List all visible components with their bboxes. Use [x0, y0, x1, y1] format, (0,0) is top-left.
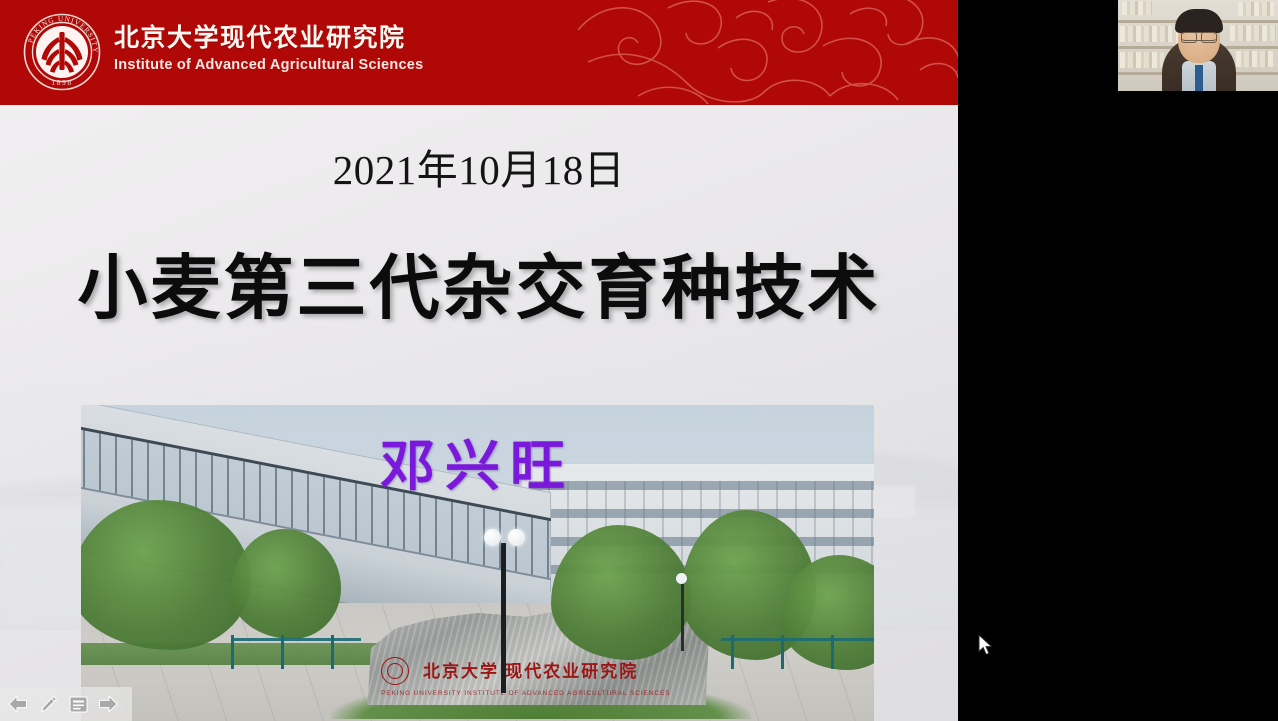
presentation-slide[interactable]: PEKING UNIVERSITY 1898 北京大学现代农业研究院 Insti…	[0, 0, 958, 721]
presentation-toolbar[interactable]	[0, 687, 132, 721]
presenter-name: 邓兴旺	[81, 421, 874, 501]
institute-name-cn: 北京大学现代农业研究院	[114, 24, 423, 53]
brand-text-block: 北京大学现代农业研究院 Institute of Advanced Agricu…	[114, 24, 423, 73]
stone-seal-icon	[381, 657, 409, 685]
screen-root: PEKING UNIVERSITY 1898 北京大学现代农业研究院 Insti…	[0, 0, 1278, 721]
pen-icon	[39, 695, 58, 714]
slide-title: 小麦第三代杂交育种技术	[0, 232, 958, 333]
presenter-video-thumbnail[interactable]	[1118, 0, 1278, 91]
arrow-pointer-icon	[978, 634, 994, 657]
previous-slide-button[interactable]	[4, 691, 32, 717]
slide-header-banner: PEKING UNIVERSITY 1898 北京大学现代农业研究院 Insti…	[0, 0, 958, 105]
eyeglasses-icon	[1181, 32, 1217, 41]
institute-name-en: Institute of Advanced Agricultural Scien…	[114, 57, 423, 73]
slide-photo: 北京大学 现代农业研究院 PEKING UNIVERSITY INSTITUTE…	[81, 405, 874, 721]
left-arrow-icon	[8, 695, 28, 713]
photo-stone-text-en: PEKING UNIVERSITY INSTITUTE OF ADVANCED …	[381, 690, 711, 697]
photo-lamp-post	[501, 543, 506, 693]
photo-stone-text-cn: 北京大学 现代农业研究院	[381, 657, 701, 685]
notes-icon	[69, 696, 88, 713]
next-slide-button[interactable]	[94, 691, 122, 717]
pen-annotation-button[interactable]	[34, 691, 62, 717]
svg-text:1898: 1898	[51, 78, 73, 87]
peking-university-seal-icon: PEKING UNIVERSITY 1898	[22, 12, 102, 92]
slide-date: 2021年10月18日	[0, 136, 958, 196]
slide-menu-button[interactable]	[64, 691, 92, 717]
cloud-swirl-pattern-icon	[568, 0, 958, 105]
right-arrow-icon	[98, 695, 118, 713]
